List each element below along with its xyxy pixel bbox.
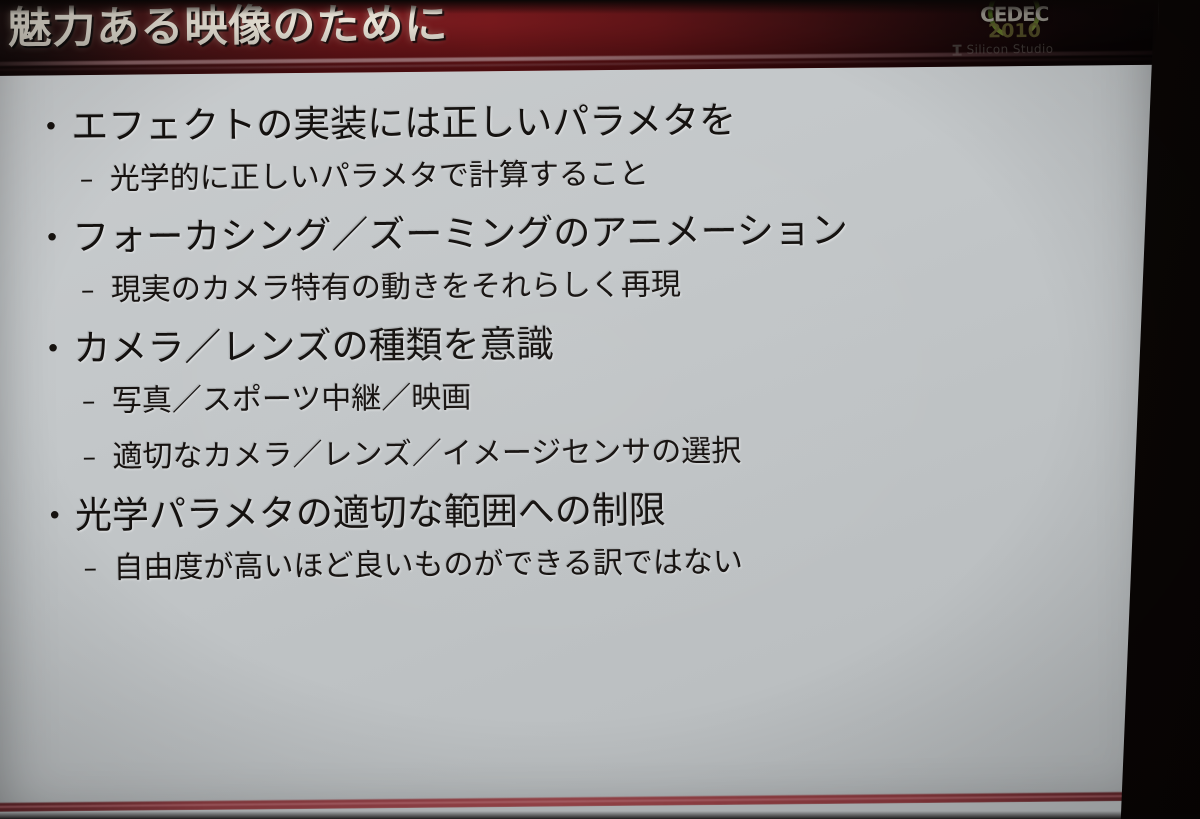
slide-surface: 魅力ある映像のために CED [0,0,1166,819]
bullet-block: • フォーカシング／ズーミングのアニメーション – 現実のカメラ特有の動きをそれ… [0,202,1161,316]
bullet-block: • 光学パラメタの適切な範囲への制限 – 自由度が高いほど良いものができる訳では… [0,480,1164,594]
sub-bullet-item: – 写真／スポーツ中継／映画 [0,368,1162,427]
projected-slide-photo: 魅力ある映像のために CED [0,0,1200,819]
slide-title: 魅力ある映像のために [8,0,449,56]
sub-bullet-item: – 適切なカメラ／レンズ／イメージセンサの選択 [0,424,1163,483]
sub-bullet-item: – 現実のカメラ特有の動きをそれらしく再現 [0,257,1161,316]
sub-bullet-item: – 光学的に正しいパラメタで計算すること [0,146,1160,205]
bullet-text: フォーカシング／ズーミングのアニメーション [72,205,848,264]
bullet-text: カメラ／レンズの種類を意識 [73,319,554,376]
dash-icon: – [82,378,112,426]
sub-bullet-item: – 自由度が高いほど良いものができる訳ではない [0,535,1164,594]
bullet-block: • エフェクトの実装には正しいパラメタを – 光学的に正しいパラメタで計算するこ… [0,91,1160,205]
sub-bullet-text: 写真／スポーツ中継／映画 [112,374,472,425]
slide-header: 魅力ある映像のために CED [0,0,1159,76]
cedec-year: 2010 [968,20,1060,43]
sub-bullet-text: 自由度が高いほど良いものができる訳ではない [113,539,743,593]
slide-body: • エフェクトの実装には正しいパラメタを – 光学的に正しいパラメタで計算するこ… [0,65,1166,819]
dash-icon: – [80,156,110,204]
bullet-dot-icon: • [36,212,72,264]
bullet-item: • 光学パラメタの適切な範囲への制限 [0,480,1163,543]
bullet-text: エフェクトの実装には正しいパラメタを [71,95,736,153]
bullet-item: • カメラ／レンズの種類を意識 [0,313,1162,376]
sub-bullet-text: 光学的に正しいパラメタで計算すること [110,151,650,204]
dash-icon: – [83,545,113,593]
sub-bullet-text: 現実のカメラ特有の動きをそれらしく再現 [111,261,681,314]
sub-bullet-text: 適切なカメラ／レンズ／イメージセンサの選択 [112,428,741,482]
bullet-dot-icon: • [39,490,75,542]
dash-icon: – [82,434,112,482]
bullet-item: • フォーカシング／ズーミングのアニメーション [0,202,1161,265]
page-number: 1 [1149,803,1160,819]
cedec-logo: CEDEC CEDEC 2010 [968,0,1061,42]
bullet-item: • エフェクトの実装には正しいパラメタを [0,91,1160,154]
bullet-text: 光学パラメタの適切な範囲への制限 [75,484,666,542]
bullet-dot-icon: • [37,323,73,375]
bullet-block: • カメラ／レンズの種類を意識 – 写真／スポーツ中継／映画 – 適切なカメラ／… [0,313,1163,483]
dash-icon: – [81,267,111,315]
bullet-dot-icon: • [35,101,71,153]
